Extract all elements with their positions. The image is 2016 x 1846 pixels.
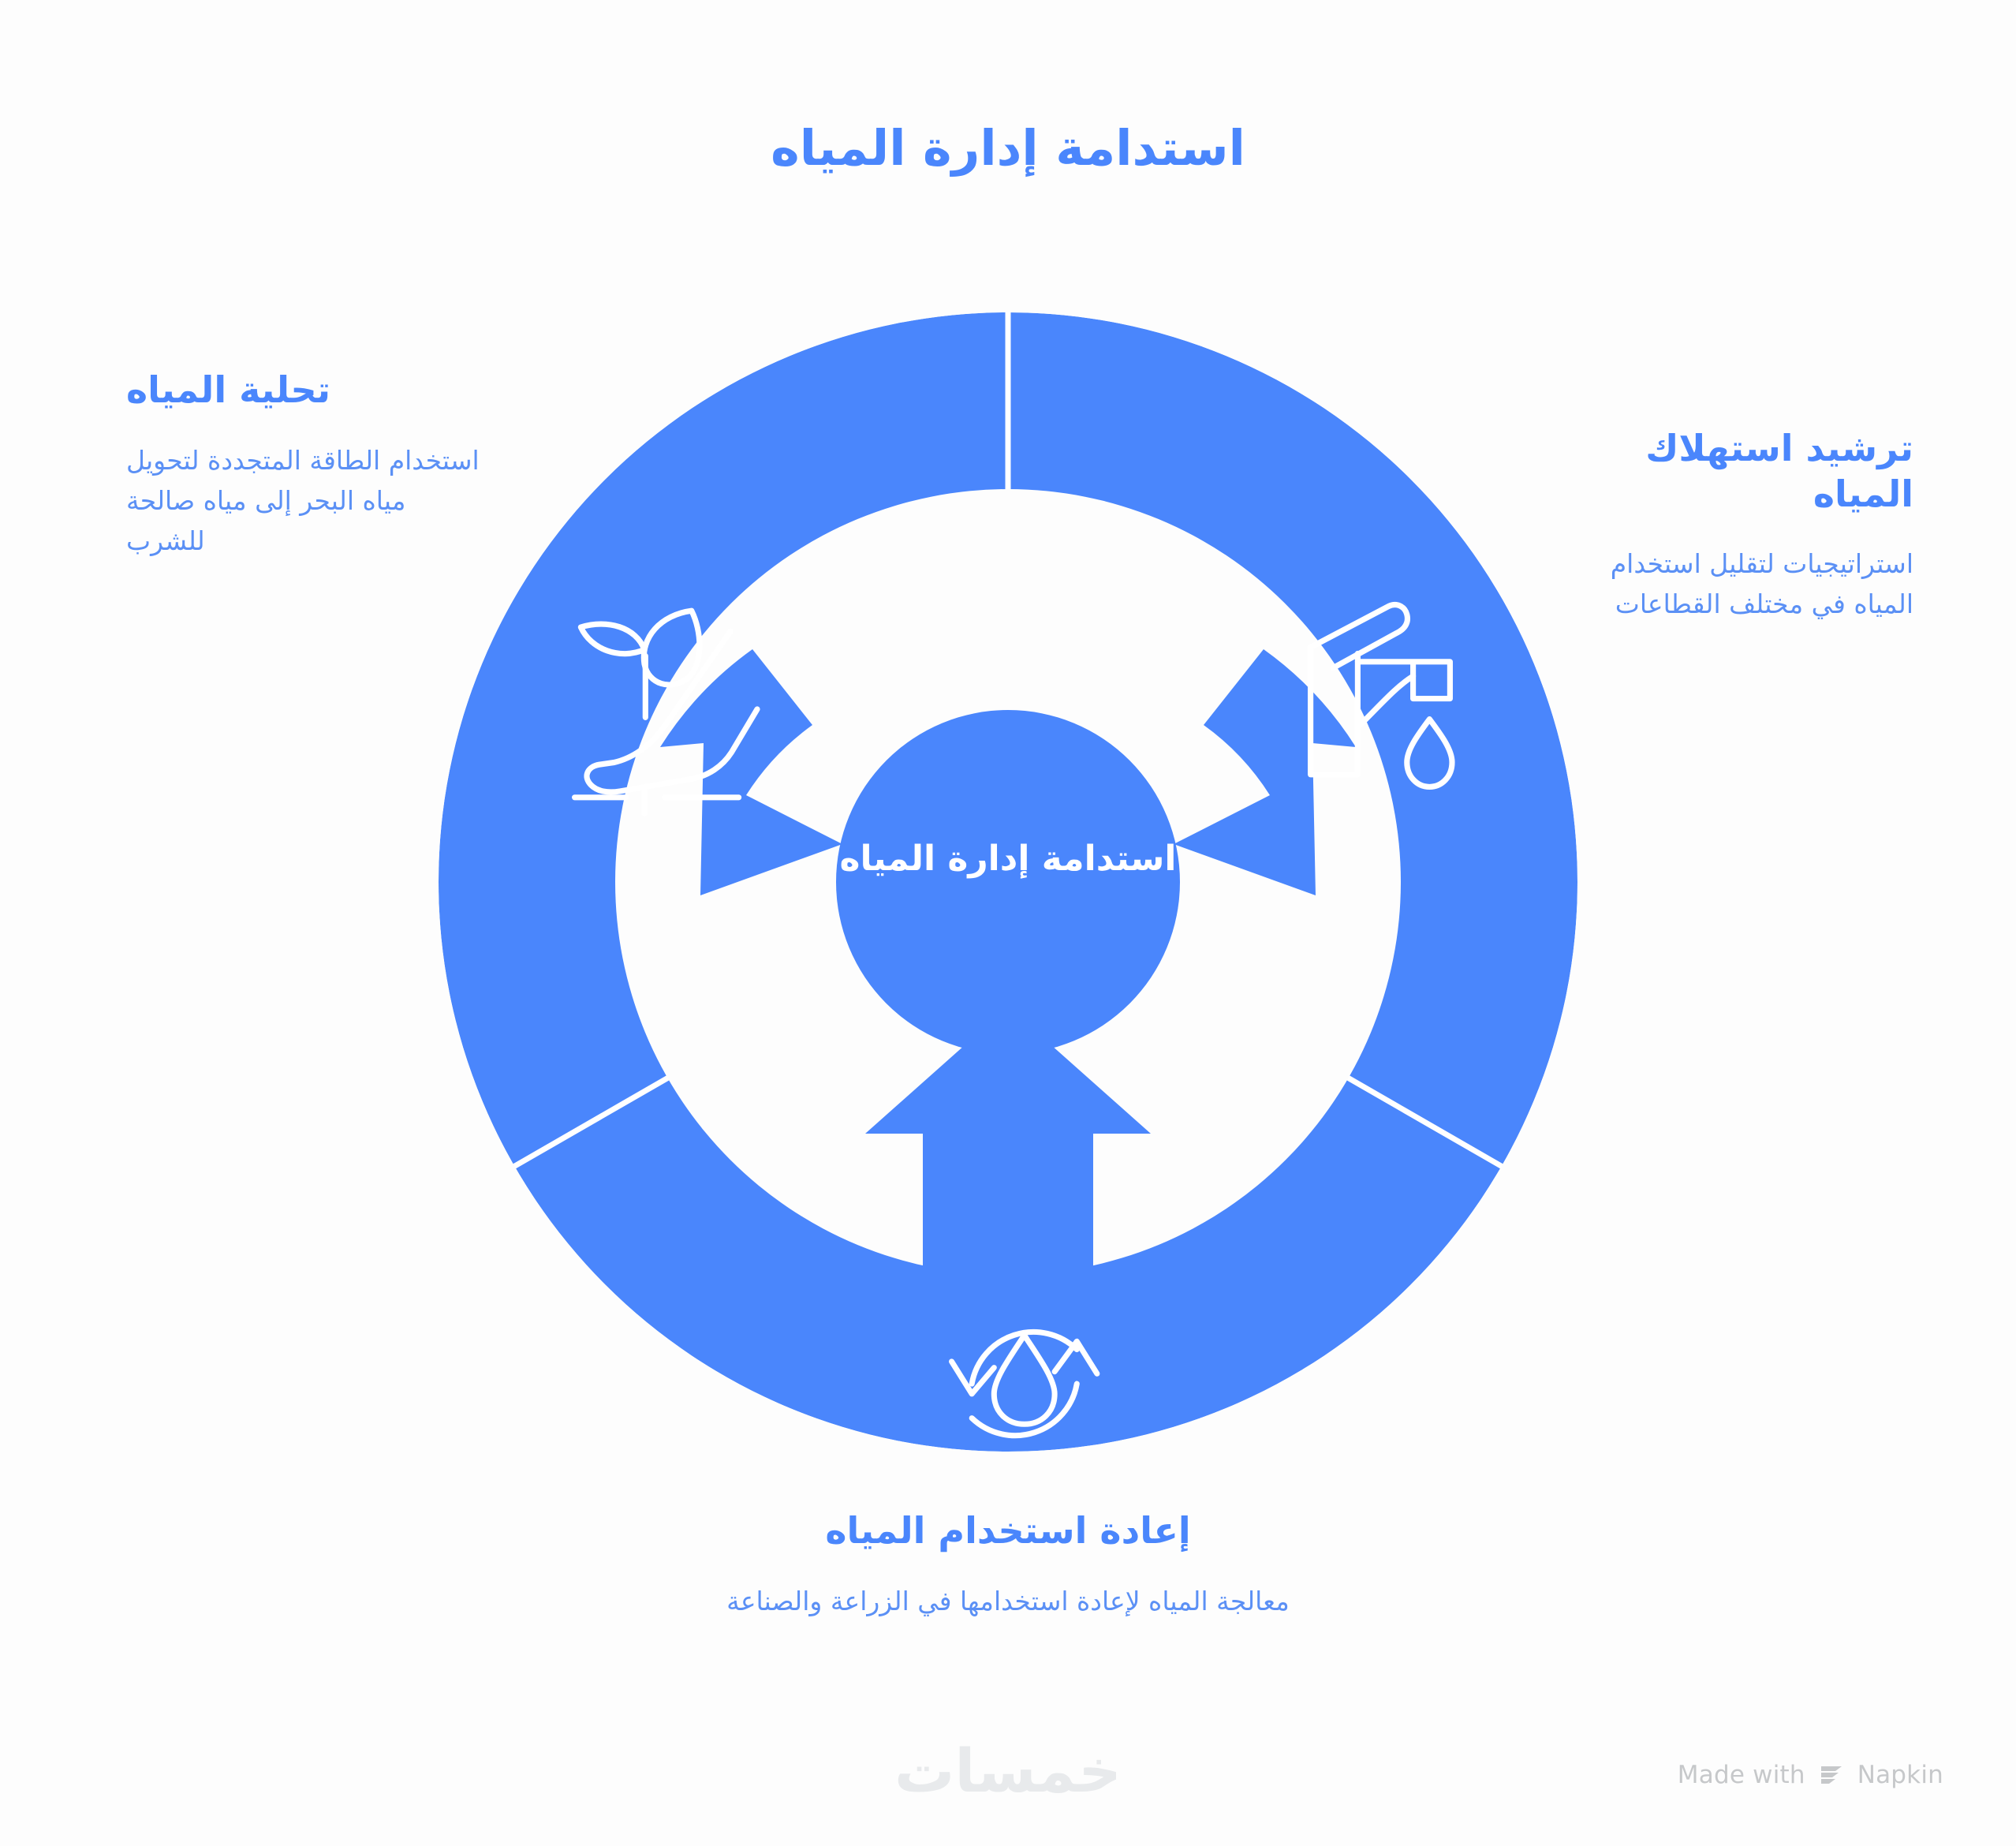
hub-circle <box>836 710 1180 1054</box>
callout-title-water-reuse: إعادة استخدام المياه <box>0 1508 2016 1554</box>
page-title: استدامة إدارة المياه <box>0 120 2016 176</box>
callout-title-water-desalination: تحلية المياه <box>126 368 481 413</box>
cycle-diagram <box>439 312 1577 1452</box>
cycle-diagram-svg <box>439 312 1577 1452</box>
callout-title-water-rationing: ترشيد استهلاك المياه <box>1543 426 1913 517</box>
callout-desc-water-desalination: استخدام الطاقة المتجددة لتحويل مياه البح… <box>126 440 481 561</box>
made-with-label: Made with <box>1678 1761 1805 1789</box>
napkin-attribution: Made with Napkin <box>1678 1761 1943 1789</box>
callout-water-reuse: إعادة استخدام المياه معالجة المياه لإعاد… <box>0 1508 2016 1622</box>
callout-desc-water-rationing: استراتيجيات لتقليل استخدام المياه في مخت… <box>1543 544 1913 624</box>
callout-water-rationing: ترشيد استهلاك المياه استراتيجيات لتقليل … <box>1543 426 1913 624</box>
napkin-logo-icon <box>1818 1762 1845 1788</box>
callout-water-desalination: تحلية المياه استخدام الطاقة المتجددة لتح… <box>126 368 481 561</box>
callout-desc-water-reuse: معالجة المياه لإعادة استخدامها في الزراع… <box>0 1581 2016 1622</box>
napkin-brand-label: Napkin <box>1857 1761 1943 1789</box>
